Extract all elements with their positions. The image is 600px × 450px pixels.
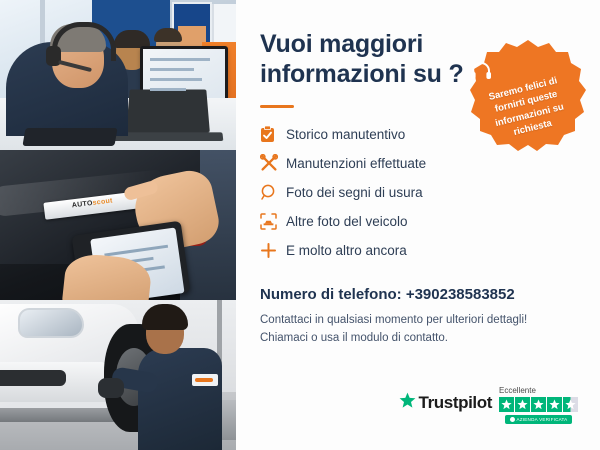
star-filled — [531, 397, 546, 412]
trustpilot-brand: Trustpilot — [399, 392, 492, 424]
list-item: Foto dei segni di usura — [260, 178, 576, 206]
phone-number[interactable]: Numero di telefono: +390238583852 — [260, 286, 576, 303]
callout-badge: Saremo felici di fornirti queste informa… — [470, 38, 586, 154]
car-headlight — [18, 308, 84, 338]
contact-line-1: Contattaci in qualsiasi momento per ulte… — [260, 312, 576, 330]
list-item: Altre foto del veicolo — [260, 207, 576, 235]
star-filled — [515, 397, 530, 412]
feature-label: Altre foto del veicolo — [286, 214, 408, 229]
clipboard-check-icon — [260, 126, 286, 143]
magnifier-icon — [260, 184, 286, 201]
uniform-logo-patch — [192, 374, 218, 386]
content-panel: Vuoi maggiori informazioni su ? Saremo f… — [236, 0, 600, 450]
colleague2-hair — [154, 28, 182, 42]
call-center-photo — [0, 0, 236, 150]
list-item: E molto altro ancora — [260, 236, 576, 264]
mechanic-glove — [98, 378, 124, 398]
feature-label: E molto altro ancora — [286, 243, 407, 258]
star-filled — [499, 397, 514, 412]
ruler-logo: AUTOscout — [72, 197, 114, 209]
mechanic-body — [138, 348, 222, 450]
advertisement-banner: AUTOscout — [0, 0, 600, 450]
keyboard — [22, 128, 117, 146]
laptop — [126, 90, 210, 133]
rating-label: Eccellente — [499, 386, 536, 395]
feature-label: Manutenzioni effettuate — [286, 156, 426, 171]
star-half — [563, 397, 578, 412]
verified-badge: AZIENDA VERIFICATA — [505, 415, 573, 424]
feature-label: Storico manutentivo — [286, 127, 405, 142]
contact-line-2: Chiamaci o usa il modulo di contatto. — [260, 330, 576, 348]
trustpilot-widget[interactable]: Trustpilot Eccellente — [399, 386, 578, 424]
wear-inspection-photo: AUTOscout — [0, 150, 236, 300]
car-scan-icon — [260, 213, 286, 230]
star-rating — [499, 397, 578, 412]
car-grille — [0, 370, 66, 386]
trustpilot-star-icon — [399, 392, 416, 414]
star-filled — [547, 397, 562, 412]
wheel-inspection-photo — [0, 300, 236, 450]
verified-label: AZIENDA VERIFICATA — [517, 417, 568, 422]
feature-label: Foto dei segni di usura — [286, 185, 423, 200]
page-title: Vuoi maggiori informazioni su ? — [260, 30, 470, 89]
plus-icon — [260, 242, 286, 259]
title-divider — [260, 105, 294, 108]
crossed-tools-icon — [260, 154, 286, 172]
check-icon — [510, 417, 515, 422]
photo-column: AUTOscout — [0, 0, 236, 450]
trustpilot-rating-block: Eccellente — [499, 386, 578, 424]
contact-description: Contattaci in qualsiasi momento per ulte… — [260, 312, 576, 348]
trustpilot-name: Trustpilot — [419, 393, 492, 413]
